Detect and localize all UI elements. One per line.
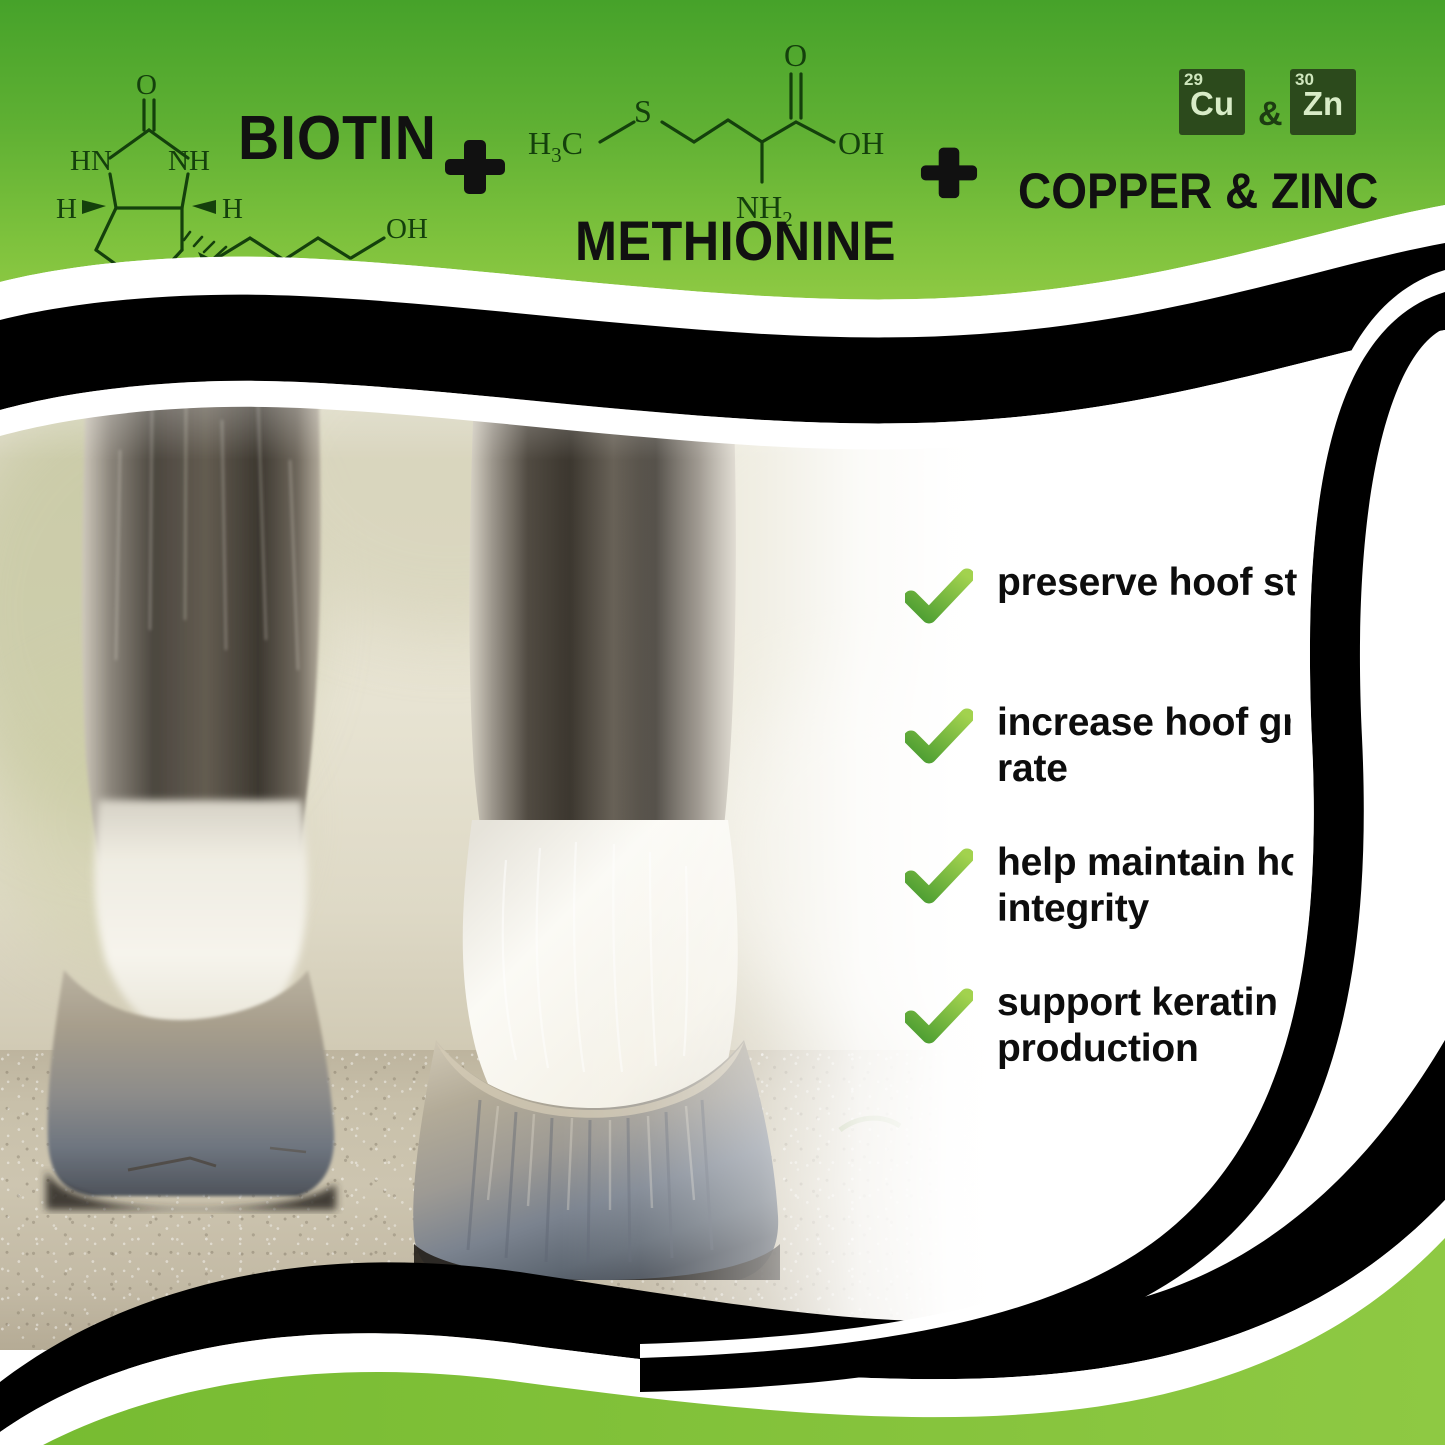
atom-label-h: H — [56, 193, 77, 225]
atom-label-o: O — [136, 69, 157, 101]
plus-icon — [444, 134, 506, 196]
benefit-label: support keratin production — [997, 980, 1425, 1071]
atom-label-o: O — [784, 37, 807, 73]
atom-label-h: H — [222, 193, 243, 225]
element-badge-zinc: 30 Zn — [1290, 69, 1356, 135]
ingredient-label-methionine: METHIONINE — [575, 208, 896, 273]
benefits-list: preserve hoof strengh increase hoof grow… — [905, 560, 1425, 1120]
plus-icon — [920, 142, 978, 200]
atom-label-nh: NH — [168, 145, 210, 177]
benefit-item: help maintain hoof integrity — [905, 840, 1425, 960]
atom-label-s: S — [132, 263, 148, 293]
benefit-item: support keratin production — [905, 980, 1425, 1100]
atom-label-hn: HN — [70, 145, 112, 177]
benefit-label: preserve hoof strengh — [997, 560, 1425, 606]
check-icon — [905, 708, 973, 766]
element-badge-copper: 29 Cu — [1179, 69, 1245, 135]
ingredient-label-biotin: BIOTIN — [238, 103, 437, 174]
atom-label-oh: OH — [386, 213, 428, 245]
benefit-item: preserve hoof strengh — [905, 560, 1425, 680]
ingredients-banner: O HN NH H H S OH O BIOTIN — [0, 0, 1445, 345]
element-symbol: Cu — [1179, 85, 1245, 123]
atom-label-h3c: H3C — [528, 125, 583, 167]
benefit-item: increase hoof grow rate — [905, 700, 1425, 820]
check-icon — [905, 988, 973, 1046]
atom-label-oh: OH — [838, 125, 884, 161]
ingredient-label-copper-zinc: COPPER & ZINC — [1018, 162, 1378, 220]
check-icon — [905, 848, 973, 906]
element-symbol: Zn — [1290, 85, 1356, 123]
check-icon — [905, 568, 973, 626]
ampersand-label: & — [1258, 95, 1283, 134]
banner-content: O HN NH H H S OH O BIOTIN — [0, 0, 1445, 345]
benefit-label: increase hoof grow rate — [997, 700, 1425, 791]
poster-root: O HN NH H H S OH O BIOTIN — [0, 0, 1445, 1445]
atom-label-s: S — [634, 93, 652, 129]
benefit-label: help maintain hoof integrity — [997, 840, 1425, 931]
